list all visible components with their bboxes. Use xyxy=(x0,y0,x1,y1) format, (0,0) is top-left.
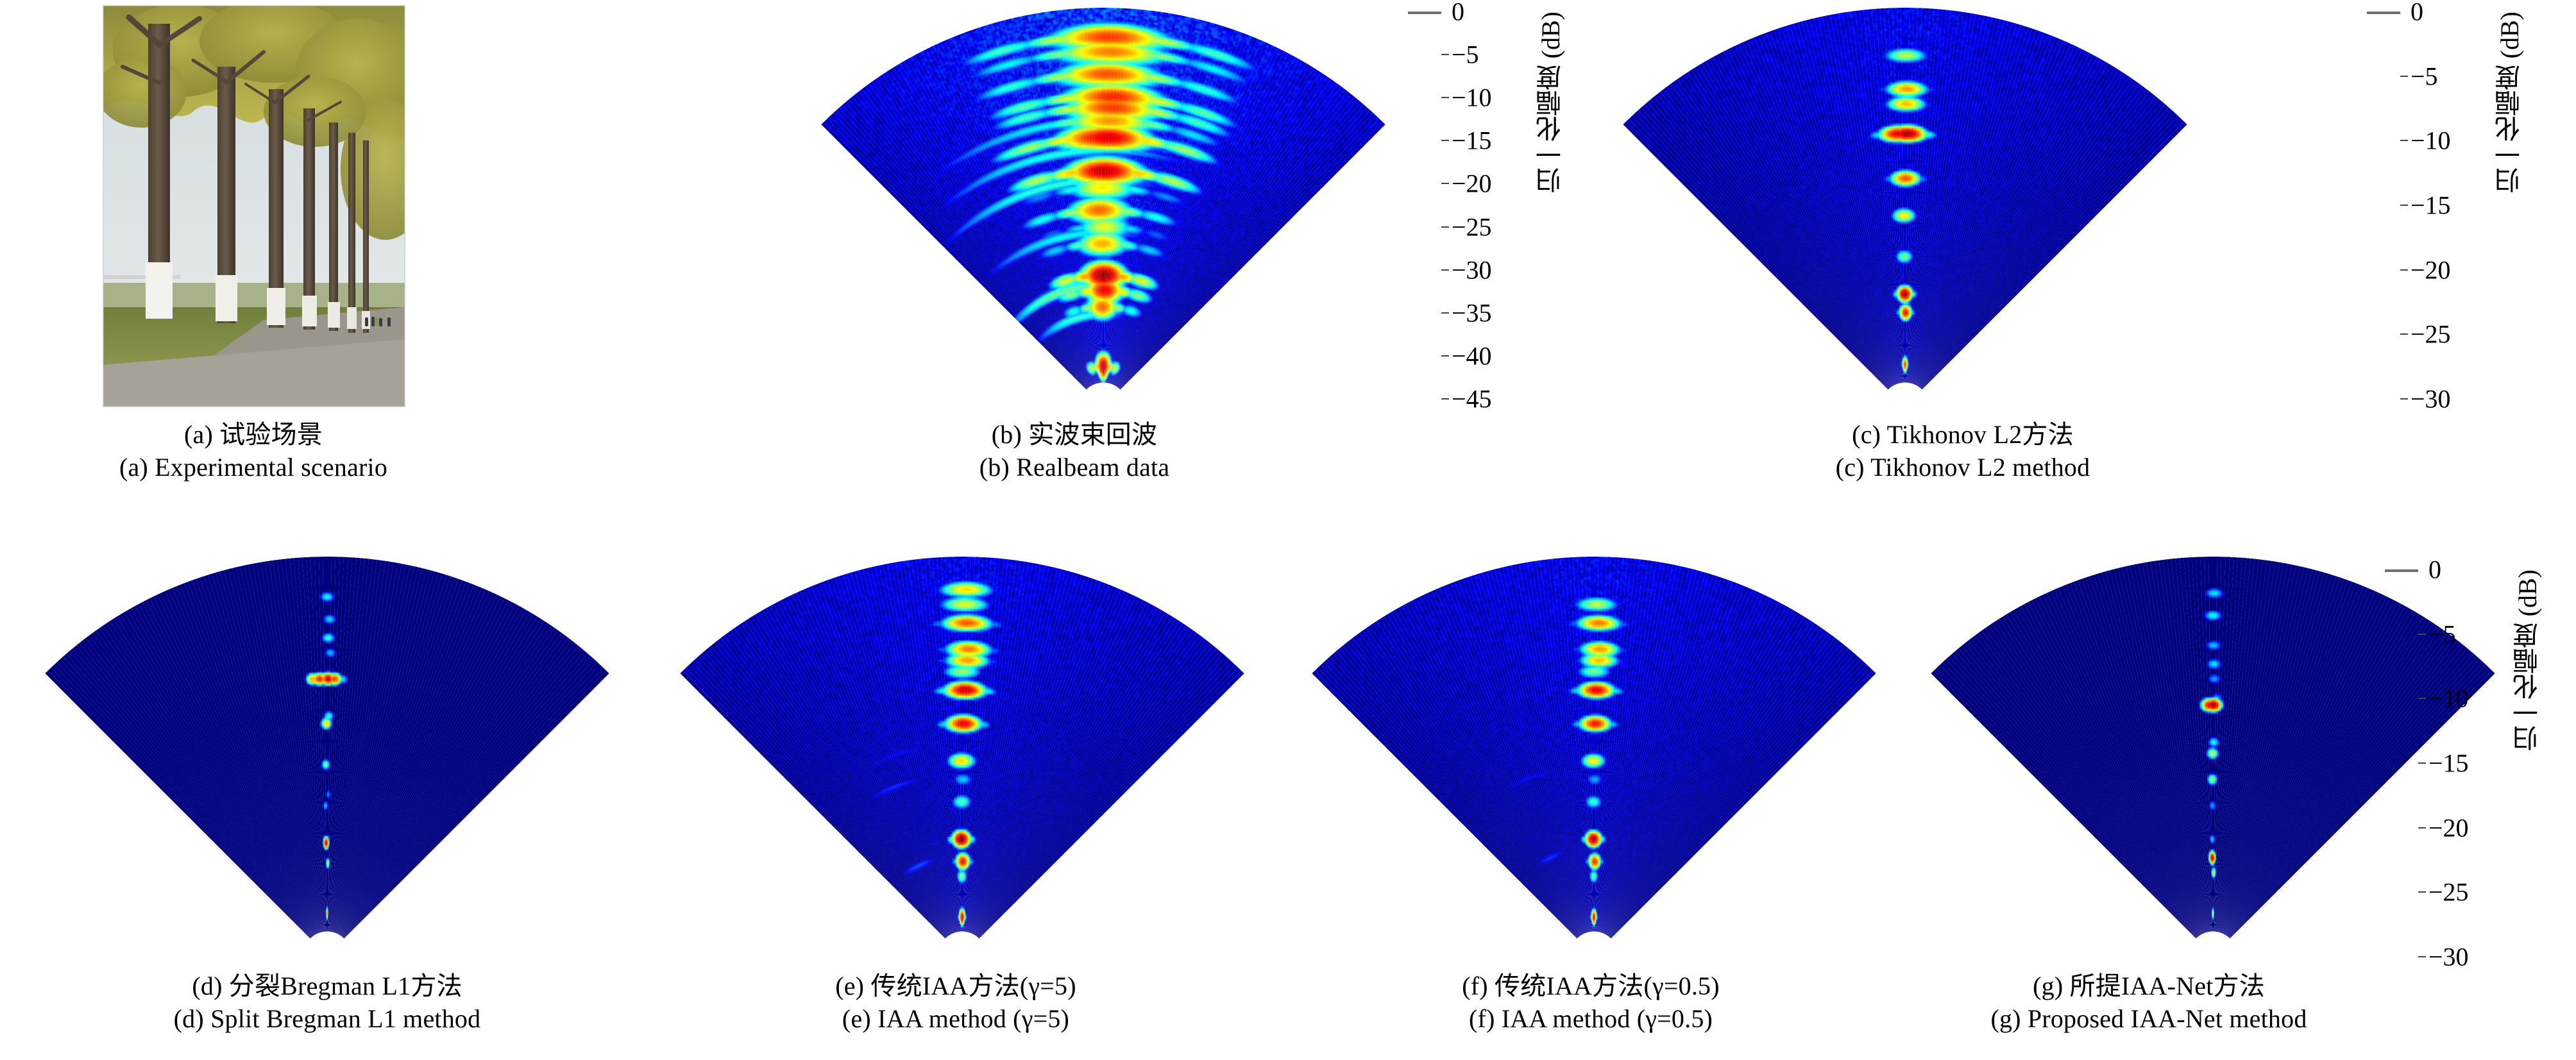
colorbar-tick-label: −10 xyxy=(2428,684,2469,714)
sector-clip-group xyxy=(674,550,1251,961)
panel-b-sector-plot xyxy=(815,1,1392,412)
caption-a-en: (a) Experimental scenario xyxy=(90,451,417,484)
colorbar-g: 0−5−10−15−20−25−30 归一化幅度 (dB) xyxy=(2385,569,2546,957)
colorbar-tick-mark xyxy=(2400,333,2408,335)
colorbar-g-axis-label: 归一化幅度 (dB) xyxy=(2509,569,2546,751)
caption-panel-e: (e) 传统IAA方法(γ=5) (e) IAA method (γ=5) xyxy=(667,970,1244,1035)
colorbar-g-gradient xyxy=(2385,569,2418,572)
sector-clip-group xyxy=(815,1,1392,412)
colorbar-tick-label: −15 xyxy=(2411,190,2451,221)
colorbar-tick-label: −5 xyxy=(2411,61,2438,91)
caption-b-en: (b) Realbeam data xyxy=(911,451,1238,484)
caption-d-en: (d) Split Bregman L1 method xyxy=(38,1002,616,1035)
sector-image-e xyxy=(674,550,1251,961)
colorbar-c-axis-label: 归一化幅度 (dB) xyxy=(2491,12,2529,193)
colorbar-b-axis-label: 归一化幅度 (dB) xyxy=(1532,12,1570,193)
colorbar-tick-mark xyxy=(2418,956,2426,957)
sector-image-c xyxy=(1616,1,2194,412)
sector-clip-group xyxy=(1305,550,1883,961)
panel-a-photo xyxy=(103,5,405,407)
panel-c-sector-plot xyxy=(1616,1,2194,412)
caption-panel-g: (g) 所提IAA-Net方法 (g) Proposed IAA-Net met… xyxy=(1847,970,2450,1035)
colorbar-tick-label: −5 xyxy=(1452,40,1479,70)
colorbar-tick-label: −30 xyxy=(1452,255,1492,285)
caption-panel-f: (f) 传统IAA方法(γ=0.5) (f) IAA method (γ=0.5… xyxy=(1302,970,1879,1035)
colorbar-tick-label: 0 xyxy=(2428,555,2441,585)
colorbar-c-gradient xyxy=(2367,12,2400,14)
colorbar-tick-label: −20 xyxy=(1452,169,1492,199)
colorbar-tick-mark xyxy=(1441,355,1449,357)
caption-g-zh: (g) 所提IAA-Net方法 xyxy=(1847,970,2450,1002)
colorbar-tick-mark xyxy=(1441,97,1449,98)
colorbar-tick-label: −20 xyxy=(2428,812,2469,843)
caption-panel-a: (a) 试验场景 (a) Experimental scenario xyxy=(90,418,417,484)
colorbar-c: 0−5−10−15−20−25−30 归一化幅度 (dB) xyxy=(2367,12,2529,399)
colorbar-tick-label: −35 xyxy=(1452,298,1492,328)
caption-f-zh: (f) 传统IAA方法(γ=0.5) xyxy=(1302,970,1879,1002)
colorbar-tick-label: −15 xyxy=(2428,748,2469,778)
colorbar-tick-mark xyxy=(2418,891,2426,893)
sector-image-b xyxy=(815,1,1392,412)
caption-c-en: (c) Tikhonov L2 method xyxy=(1758,451,2168,484)
colorbar-tick-label: −25 xyxy=(2411,319,2451,349)
caption-d-zh: (d) 分裂Bregman L1方法 xyxy=(38,970,616,1002)
colorbar-g-ticks: 0−5−10−15−20−25−30 xyxy=(2418,569,2508,957)
caption-c-zh: (c) Tikhonov L2方法 xyxy=(1758,418,2168,451)
caption-g-en: (g) Proposed IAA-Net method xyxy=(1847,1002,2450,1035)
colorbar-tick-label: 0 xyxy=(2411,0,2423,27)
sector-image-f xyxy=(1305,550,1883,961)
colorbar-tick-mark xyxy=(1441,54,1449,55)
colorbar-tick-mark xyxy=(1441,398,1449,400)
colorbar-tick-mark xyxy=(1441,183,1449,184)
caption-e-zh: (e) 传统IAA方法(γ=5) xyxy=(667,970,1244,1002)
colorbar-tick-label: −10 xyxy=(2411,126,2451,156)
colorbar-tick-mark xyxy=(2400,269,2408,271)
colorbar-tick-label: −30 xyxy=(2428,942,2469,972)
colorbar-b: 0−5−10−15−20−25−30−35−40−45 归一化幅度 (dB) xyxy=(1408,12,1570,399)
colorbar-tick-mark xyxy=(2418,827,2426,829)
colorbar-tick-label: −25 xyxy=(1452,212,1492,242)
colorbar-b-gradient xyxy=(1408,12,1441,14)
sector-clip-group xyxy=(1616,1,2194,412)
colorbar-tick-mark xyxy=(2400,140,2408,141)
caption-a-zh: (a) 试验场景 xyxy=(90,418,417,451)
caption-panel-b: (b) 实波束回波 (b) Realbeam data xyxy=(911,418,1238,484)
colorbar-tick-mark xyxy=(2418,634,2426,635)
caption-panel-c: (c) Tikhonov L2方法 (c) Tikhonov L2 method xyxy=(1758,418,2168,484)
panel-d-sector-plot xyxy=(38,550,616,961)
colorbar-tick-label: −20 xyxy=(2411,255,2451,285)
colorbar-tick-label: 0 xyxy=(1452,0,1464,27)
colorbar-tick-label: −5 xyxy=(2428,619,2456,649)
sector-image-d xyxy=(38,550,616,961)
colorbar-c-ticks: 0−5−10−15−20−25−30 xyxy=(2400,12,2490,399)
colorbar-tick-mark xyxy=(1441,312,1449,314)
colorbar-tick-label: −25 xyxy=(2428,877,2469,907)
caption-b-zh: (b) 实波束回波 xyxy=(911,418,1238,451)
caption-f-en: (f) IAA method (γ=0.5) xyxy=(1302,1002,1879,1035)
colorbar-tick-mark xyxy=(1441,226,1449,228)
caption-e-en: (e) IAA method (γ=5) xyxy=(667,1002,1244,1035)
caption-panel-d: (d) 分裂Bregman L1方法 (d) Split Bregman L1 … xyxy=(38,970,616,1035)
colorbar-tick-mark xyxy=(2400,398,2408,400)
colorbar-tick-label: −10 xyxy=(1452,83,1492,113)
colorbar-tick-mark xyxy=(2400,205,2408,206)
colorbar-tick-mark xyxy=(2400,76,2408,77)
panel-e-sector-plot xyxy=(674,550,1251,961)
colorbar-tick-mark xyxy=(1441,140,1449,141)
colorbar-tick-label: −15 xyxy=(1452,126,1492,156)
colorbar-tick-mark xyxy=(2418,698,2426,699)
colorbar-tick-label: −30 xyxy=(2411,384,2451,414)
colorbar-tick-label: −45 xyxy=(1452,384,1492,414)
colorbar-tick-mark xyxy=(1441,269,1449,271)
figure-root: 0−5−10−15−20−25−30−35−40−45 归一化幅度 (dB) 0… xyxy=(0,0,2576,1060)
sector-clip-group xyxy=(38,550,616,961)
colorbar-tick-mark xyxy=(2418,762,2426,764)
panel-f-sector-plot xyxy=(1305,550,1883,961)
colorbar-tick-label: −40 xyxy=(1452,341,1492,371)
photo-illustration xyxy=(103,6,405,407)
colorbar-b-ticks: 0−5−10−15−20−25−30−35−40−45 xyxy=(1441,12,1531,399)
